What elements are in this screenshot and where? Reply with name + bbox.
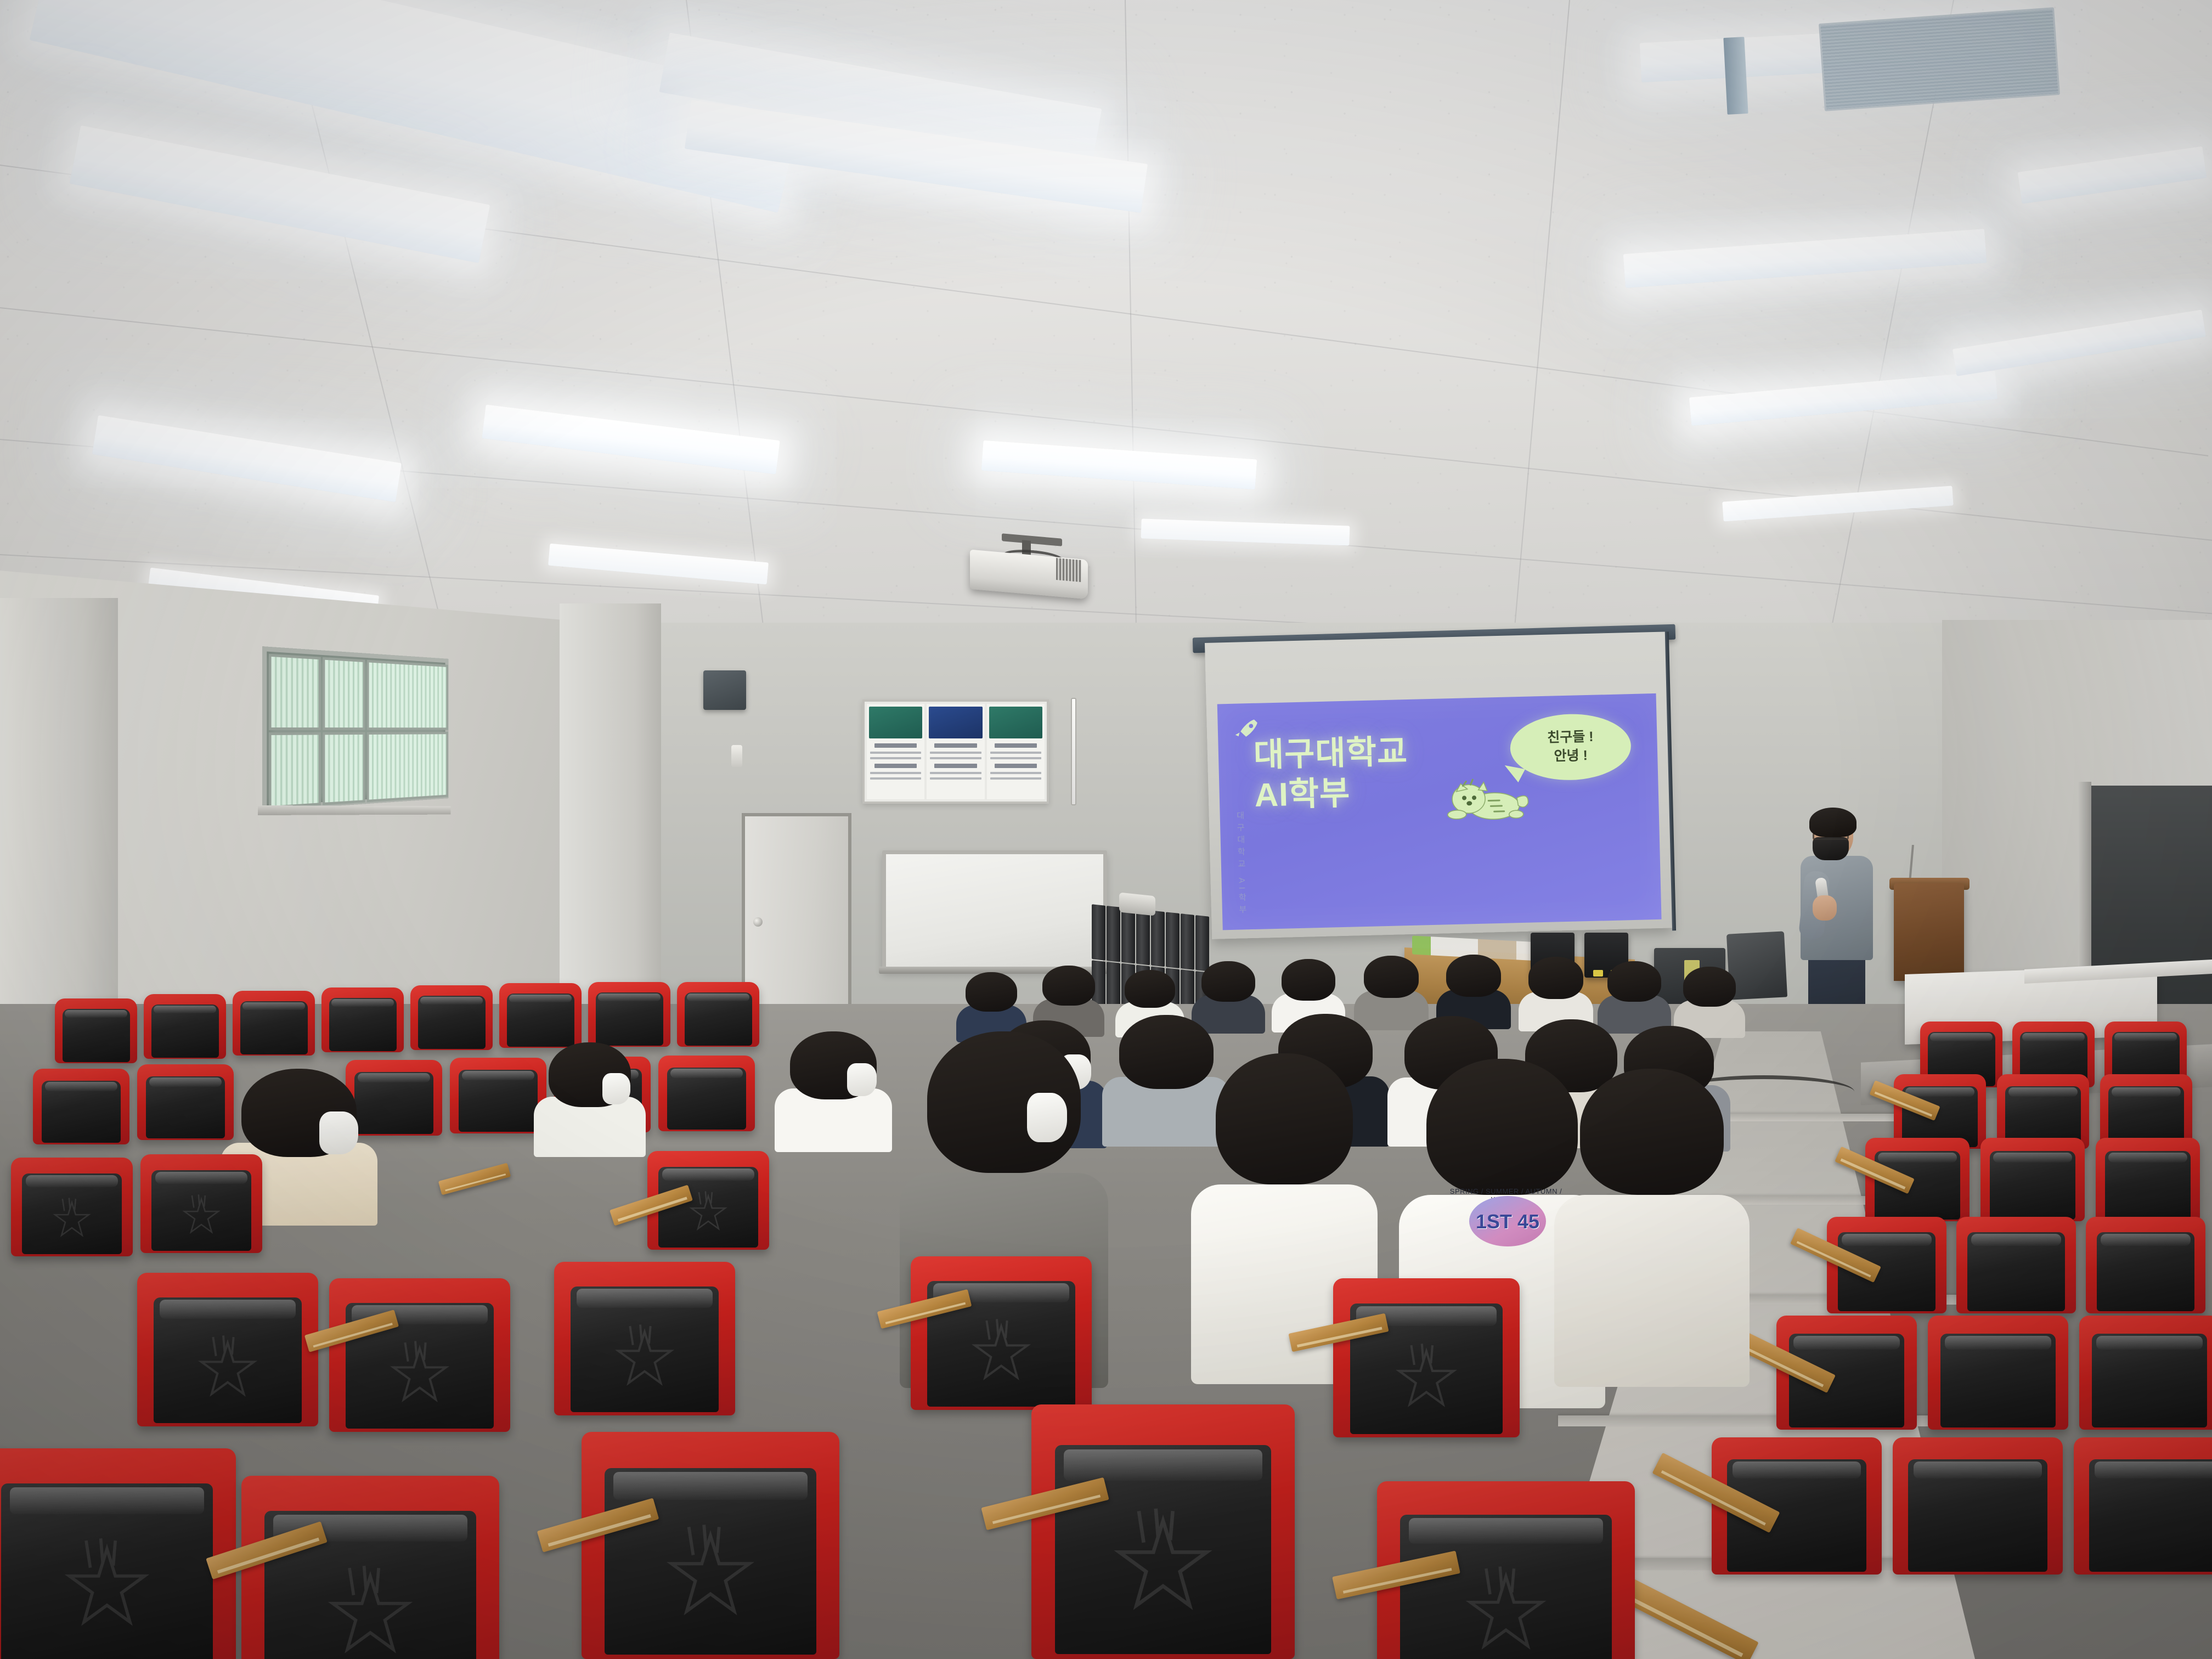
seat-gloss: [65, 1010, 127, 1018]
whiteboard: [882, 850, 1107, 971]
person-head: [1119, 1015, 1214, 1089]
star-emblem-icon: [374, 1337, 466, 1410]
poster-text-line: [990, 772, 1041, 774]
star-emblem-icon: [42, 1532, 173, 1637]
seat[interactable]: [450, 1058, 546, 1133]
window-pane: [367, 660, 448, 730]
computer-tower: [1181, 913, 1194, 970]
seat[interactable]: [2074, 1437, 2212, 1575]
seat[interactable]: [55, 998, 137, 1063]
seat[interactable]: [582, 1432, 839, 1659]
seat-shell: [354, 1072, 433, 1134]
seat-shell: [1990, 1151, 2075, 1220]
seat-gloss: [10, 1487, 205, 1514]
screen-fabric: 대구대학교 AI학부 대구대학교 AI학부 친구들 ! 안녕 !: [1205, 631, 1673, 939]
door-knob-icon[interactable]: [753, 917, 763, 927]
poster-text-line: [990, 757, 1041, 759]
seat-gloss: [509, 995, 571, 1003]
audience-member: [1580, 1069, 1724, 1343]
seat-gloss: [577, 1289, 713, 1307]
seat-gloss: [1793, 1336, 1899, 1350]
middle-pillar: [560, 603, 661, 1037]
presenter-hair: [1809, 808, 1857, 837]
window-pane: [367, 732, 448, 802]
seat-gloss: [358, 1073, 431, 1082]
seat-gloss: [1409, 1518, 1604, 1544]
face-mask: [847, 1063, 877, 1096]
computer-tower: [1151, 911, 1165, 967]
ceiling-projector: [970, 540, 1088, 601]
star-emblem-icon: [645, 1519, 776, 1627]
audience-member: [1683, 967, 1736, 1031]
seat-shell: [571, 1286, 719, 1413]
poster-heading-bar: [934, 743, 977, 748]
seat-gloss: [160, 1300, 296, 1318]
seat-shell: [151, 1170, 251, 1251]
face-mask: [1027, 1093, 1067, 1142]
seat[interactable]: [329, 1278, 510, 1432]
seat[interactable]: [1333, 1278, 1520, 1437]
seat-gloss: [1878, 1153, 1956, 1163]
poster-image: [869, 707, 922, 738]
seat[interactable]: [1893, 1437, 2063, 1575]
computer-tower: [1092, 904, 1105, 961]
seat[interactable]: [2096, 1138, 2200, 1221]
person-head: [1446, 955, 1501, 997]
poster-heading-bar: [934, 764, 977, 768]
seat-shell: [42, 1081, 121, 1143]
seat-gloss: [1064, 1449, 1262, 1481]
computer-tower: [1107, 906, 1120, 962]
poster-text-line: [870, 752, 921, 754]
air-vent-grille: [1819, 7, 2060, 111]
wall-light-tube: [1071, 698, 1076, 805]
seat[interactable]: [321, 988, 404, 1052]
seat-gloss: [2114, 1033, 2176, 1041]
seat-gloss: [2096, 1336, 2202, 1350]
seat-gloss: [462, 1071, 535, 1080]
slide-title: 대구대학교 AI학부: [1253, 731, 1409, 815]
clerestory-windows: [262, 646, 448, 811]
seat-shell: [685, 992, 752, 1046]
seat-gloss: [1905, 1087, 1975, 1097]
slide-title-line-2: AI학부: [1254, 771, 1409, 815]
vent-tab: [1723, 37, 1748, 115]
seat-gloss: [670, 1069, 743, 1078]
seat[interactable]: [1928, 1316, 2068, 1430]
seat[interactable]: [137, 1273, 318, 1426]
seat-shell: [154, 1297, 302, 1424]
tiger-mascot-icon: [1446, 766, 1530, 827]
seat-gloss: [2108, 1153, 2187, 1163]
seat[interactable]: [410, 985, 493, 1050]
audience-member: [1607, 961, 1661, 1027]
seat[interactable]: [0, 1448, 236, 1659]
seat-gloss: [1971, 1234, 2061, 1246]
poster-text-line: [930, 777, 981, 780]
poster-text-line: [870, 772, 921, 774]
computer-tower: [1136, 909, 1150, 966]
seat-gloss: [662, 1169, 754, 1181]
person-head: [1528, 957, 1583, 999]
seat-gloss: [1930, 1033, 1992, 1041]
seat-shell: [2105, 1151, 2191, 1220]
seat-gloss: [613, 1472, 808, 1500]
seat-shell: [1940, 1334, 2056, 1427]
star-emblem-icon: [305, 1560, 436, 1659]
poster-heading-bar: [874, 764, 917, 768]
person-head: [1426, 1059, 1578, 1195]
seat-shell: [418, 996, 486, 1049]
seat-shell: [240, 1001, 308, 1054]
person-head: [1607, 961, 1661, 1002]
wall-fixture: [731, 745, 742, 767]
seat[interactable]: [554, 1262, 735, 1415]
seat-gloss: [45, 1082, 118, 1091]
poster-image: [989, 707, 1042, 738]
projector-vent-grille: [1056, 558, 1081, 582]
seat[interactable]: [233, 991, 315, 1056]
seat[interactable]: [677, 982, 759, 1047]
seat-gloss: [598, 994, 660, 1002]
wall-speaker: [703, 670, 746, 710]
person-head: [1282, 959, 1335, 1001]
poster-panel: [927, 704, 984, 799]
seat-shell: [2092, 1334, 2207, 1427]
seat-gloss: [1945, 1336, 2051, 1350]
presenter-face-mask: [1813, 837, 1849, 860]
window-sill: [258, 805, 450, 815]
seat-gloss: [1842, 1234, 1932, 1246]
seat-shell: [605, 1468, 816, 1654]
poster-heading-bar: [995, 743, 1037, 748]
computer-tower: [1166, 912, 1180, 968]
seat-gloss: [2095, 1462, 2212, 1479]
seat[interactable]: [2086, 1217, 2205, 1313]
poster-panel: [867, 704, 924, 799]
person-head: [1580, 1069, 1724, 1195]
seat[interactable]: [140, 1154, 262, 1253]
poster-image: [929, 707, 982, 738]
seat-gloss: [242, 1002, 304, 1011]
tshirt-graphic-main: 1ST 45: [1469, 1210, 1546, 1233]
presenter-hand: [1813, 895, 1837, 921]
seat-shell: [329, 998, 397, 1051]
audience-member: [549, 1042, 631, 1147]
audience-member: [1216, 1053, 1353, 1339]
equipment-knob: [1593, 970, 1603, 977]
seat-shell: [1, 1483, 212, 1659]
seat[interactable]: [1031, 1404, 1295, 1659]
window-pane: [323, 732, 365, 805]
ceiling: [0, 0, 2212, 675]
star-emblem-icon: [1096, 1502, 1230, 1623]
seat-gloss: [149, 1077, 222, 1087]
tshirt-graphic: SPRING / SUMMER / AUTUMN / WINTER 1ST 45: [1448, 1184, 1564, 1250]
star-emblem-icon: [1441, 1561, 1572, 1659]
seat-shell: [151, 1005, 219, 1058]
person-head: [1042, 966, 1095, 1006]
poster-text-line: [870, 777, 921, 780]
audience-member: [1528, 957, 1583, 1025]
seat-shell: [1875, 1151, 1960, 1220]
seat-shell: [1967, 1232, 2066, 1311]
person-head: [1364, 956, 1419, 998]
seat-shell: [667, 1068, 746, 1130]
seat[interactable]: [2079, 1316, 2212, 1430]
star-emblem-icon: [171, 1192, 233, 1239]
seat[interactable]: [33, 1069, 129, 1144]
poster-text-line: [990, 777, 1041, 780]
speech-line-2: 안녕 !: [1554, 747, 1588, 766]
slide-side-text: 대구대학교 AI학부: [1234, 811, 1249, 917]
star-emblem-icon: [955, 1315, 1047, 1388]
seat-shell: [1908, 1459, 2047, 1572]
podium: [1894, 883, 1964, 981]
poster-panel: [987, 704, 1045, 799]
seat-shell: [1055, 1445, 1271, 1654]
face-mask: [602, 1073, 630, 1104]
seat-shell: [63, 1009, 130, 1062]
seat[interactable]: [11, 1158, 133, 1256]
seat-gloss: [2101, 1234, 2191, 1246]
seat[interactable]: [144, 994, 226, 1059]
presentation-slide: 대구대학교 AI학부 대구대학교 AI학부 친구들 ! 안녕 !: [1217, 693, 1662, 930]
window-pane: [323, 657, 365, 730]
seat[interactable]: [1980, 1138, 2085, 1221]
projection-screen: 대구대학교 AI학부 대구대학교 AI학부 친구들 ! 안녕 !: [1205, 631, 1677, 949]
poster-text-line: [930, 772, 981, 774]
poster-text-line: [930, 757, 981, 759]
seat[interactable]: [1956, 1217, 2076, 1313]
seat-gloss: [2112, 1087, 2181, 1097]
audience-member: [1119, 1015, 1214, 1135]
seat-gloss: [2022, 1033, 2084, 1041]
person-head: [966, 972, 1017, 1012]
person-body: [1554, 1195, 1750, 1387]
star-emblem-icon: [182, 1331, 274, 1404]
seat-shell: [2089, 1459, 2212, 1572]
seat-shell: [507, 994, 574, 1047]
seat-gloss: [1914, 1462, 2042, 1479]
seat-gloss: [420, 997, 482, 1005]
seat[interactable]: [499, 983, 582, 1048]
seat-gloss: [1993, 1153, 2072, 1163]
seat-gloss: [1733, 1462, 1861, 1479]
equipment-cover: [1119, 893, 1155, 916]
seat-shell: [22, 1173, 122, 1255]
seat-shell: [658, 1167, 758, 1248]
computer-tower: [1121, 907, 1135, 964]
person-head: [1683, 967, 1736, 1007]
star-emblem-icon: [1379, 1339, 1474, 1415]
seat-gloss: [155, 1172, 247, 1184]
seat-shell: [596, 992, 663, 1046]
seat-gloss: [687, 994, 749, 1002]
poster-text-line: [930, 752, 981, 754]
poster-text-line: [990, 752, 1041, 754]
speech-line-1: 친구들 !: [1547, 728, 1594, 748]
seat-gloss: [154, 1006, 216, 1014]
star-emblem-icon: [599, 1321, 691, 1393]
window-pane: [269, 654, 321, 730]
seat-shell: [1400, 1515, 1611, 1659]
seat-shell: [146, 1076, 225, 1138]
poster-heading-bar: [874, 743, 917, 748]
face-mask: [319, 1111, 358, 1154]
seat[interactable]: [137, 1064, 234, 1140]
person-head: [1216, 1053, 1353, 1184]
person-head: [1201, 961, 1255, 1002]
poster-display-frame: [862, 699, 1049, 804]
aisle-step: [1558, 1415, 1991, 1426]
lecture-hall-photo: 대구대학교 AI학부 대구대학교 AI학부 친구들 ! 안녕 !: [0, 0, 2212, 1659]
poster-text-line: [870, 757, 921, 759]
slide-title-line-1: 대구대학교: [1253, 731, 1408, 775]
screen-side-edge: [1665, 631, 1676, 930]
left-pillar: [0, 598, 118, 1037]
person-head: [1125, 970, 1175, 1008]
seat-gloss: [331, 999, 393, 1007]
seat-gloss: [2008, 1087, 2078, 1097]
star-emblem-icon: [41, 1195, 103, 1243]
audience-member: [790, 1031, 877, 1141]
window-pane: [269, 732, 321, 809]
seat[interactable]: [658, 1056, 755, 1131]
seat[interactable]: [588, 982, 670, 1047]
seat-shell: [459, 1070, 538, 1132]
seat[interactable]: [911, 1256, 1092, 1410]
seat-gloss: [26, 1175, 117, 1187]
seat-shell: [2097, 1232, 2195, 1311]
seat[interactable]: [346, 1060, 442, 1136]
poster-heading-bar: [995, 764, 1037, 768]
seat[interactable]: [241, 1476, 499, 1659]
audience-member: [1446, 955, 1501, 1023]
